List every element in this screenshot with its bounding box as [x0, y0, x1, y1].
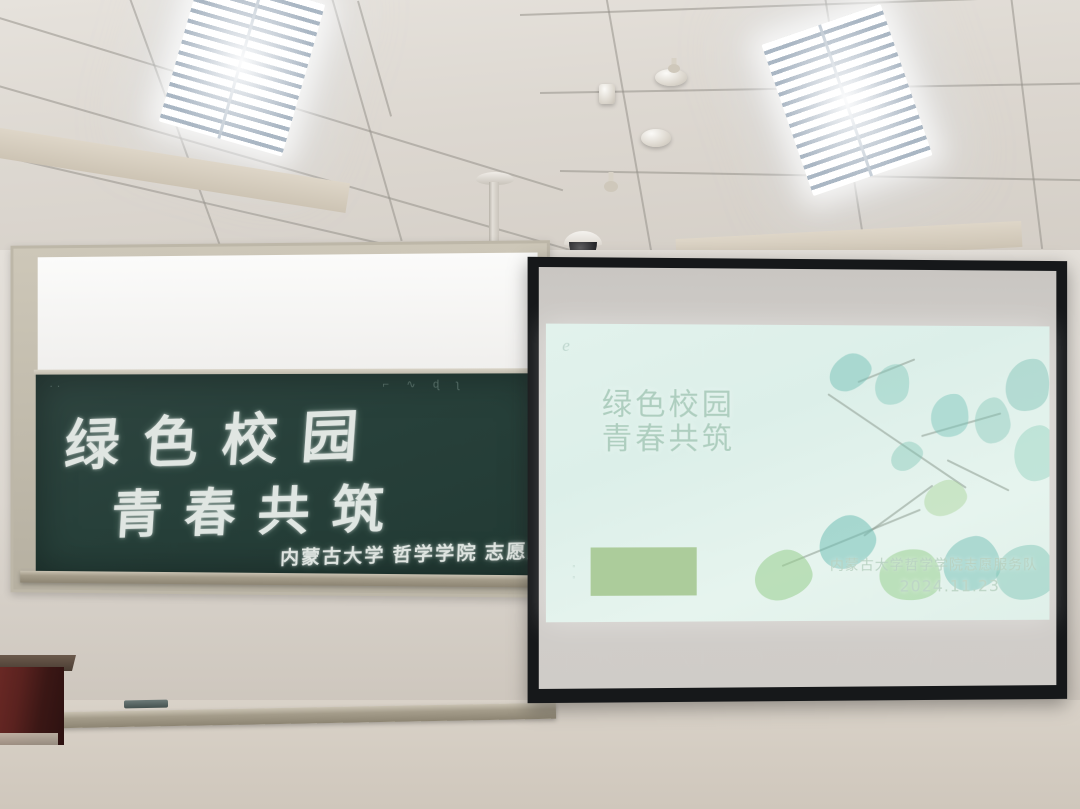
smoke-detector-2: [641, 129, 671, 147]
slide-logo-mark: e: [562, 336, 570, 356]
mic-canopy: [476, 172, 514, 185]
chalk-tray: [20, 571, 546, 588]
leaf: [995, 543, 1050, 602]
leaf: [919, 475, 971, 521]
chalkboard-unit: ·· ⌐ ∿ ɖ ʅ 绿色校园 青春共筑 内蒙古大学 哲学学院 志愿服务队: [11, 240, 550, 598]
fluorescent-light-left: [159, 0, 326, 157]
ceiling-grid-line: [329, 0, 403, 241]
ceiling-grid-line: [540, 82, 1080, 94]
branch-stem: [827, 393, 966, 488]
ceiling-grid-line: [0, 8, 563, 191]
branch-stem: [863, 485, 933, 537]
projected-slide: e 绿色校园 青春共筑 ▫▫ 内蒙古大学哲学学院志愿服务队 2024.11.23: [546, 324, 1050, 623]
ceiling-grid-line: [560, 170, 1080, 181]
leaf: [872, 360, 914, 408]
upper-white-panel: [38, 253, 538, 372]
smoke-detector-1: [655, 69, 687, 86]
slide-date: 2024.11.23: [900, 576, 1000, 595]
classroom-photo-scene: ·· ⌐ ∿ ɖ ʅ 绿色校园 青春共筑 内蒙古大学 哲学学院 志愿服务队: [0, 0, 1080, 809]
chalkboard-eraser: [124, 700, 168, 709]
branch-stem: [947, 459, 1010, 491]
junction-box: [599, 84, 615, 104]
green-chalkboard: ·· ⌐ ∿ ɖ ʅ 绿色校园 青春共筑 内蒙古大学 哲学学院 志愿服务队: [36, 373, 542, 576]
board-frame: [11, 240, 550, 598]
leaf-illustration-group: [772, 339, 1049, 621]
leaf: [929, 392, 971, 440]
ceiling-grid-line: [357, 1, 392, 117]
ceiling-soffit-left: [0, 127, 350, 213]
sprinkler-head-right: [604, 172, 618, 194]
branch-stem: [782, 509, 921, 567]
slide-title: 绿色校园 青春共筑: [602, 388, 735, 456]
branch-stem: [921, 412, 1001, 437]
leaf: [810, 507, 883, 576]
leaf: [876, 545, 944, 605]
ceiling-grid-line: [599, 0, 653, 257]
leaf: [972, 396, 1012, 445]
chalkboard-headline-1: 绿色校园: [62, 390, 385, 482]
wooden-lectern: [0, 655, 76, 760]
ceiling-grid-line: [0, 74, 575, 252]
branch-stem: [857, 358, 915, 383]
leaf: [885, 436, 927, 475]
lectern-top: [0, 655, 76, 671]
chalkboard-headline-2: 青春共筑: [110, 466, 409, 547]
chalk-faint-marks-topright: ⌐ ∿ ɖ ʅ: [383, 378, 467, 391]
slide-organization: 内蒙古大学哲学学院志愿服务队: [830, 554, 1038, 575]
leaf: [940, 533, 1004, 594]
fluorescent-light-right: [761, 4, 932, 196]
slide-corner-dots: ▫▫: [572, 562, 575, 584]
projection-screen-unit: e 绿色校园 青春共筑 ▫▫ 内蒙古大学哲学学院志愿服务队 2024.11.23: [528, 257, 1068, 703]
leaf: [748, 544, 817, 606]
leaf: [823, 347, 878, 397]
sprinkler-head-left: [668, 58, 680, 74]
leaf: [1002, 355, 1050, 415]
leaf: [1012, 424, 1049, 483]
ceiling-grid-line: [119, 0, 223, 253]
ceiling-grid-line: [819, 0, 866, 252]
whiteboard-rail: [34, 368, 542, 376]
slide-title-line2: 青春共筑: [602, 422, 735, 456]
slide-title-line1: 绿色校园: [602, 387, 735, 423]
ceiling-grid-line: [520, 0, 1080, 16]
lectern-body: [0, 667, 64, 745]
lectern-control-panel: [0, 733, 58, 745]
slide-accent-block: [591, 547, 697, 596]
chalk-faint-marks-topleft: ··: [49, 380, 64, 392]
wall-lower-band: [0, 700, 1080, 809]
ceiling-grid-line: [1007, 0, 1043, 249]
wall-ledge: [0, 703, 556, 730]
